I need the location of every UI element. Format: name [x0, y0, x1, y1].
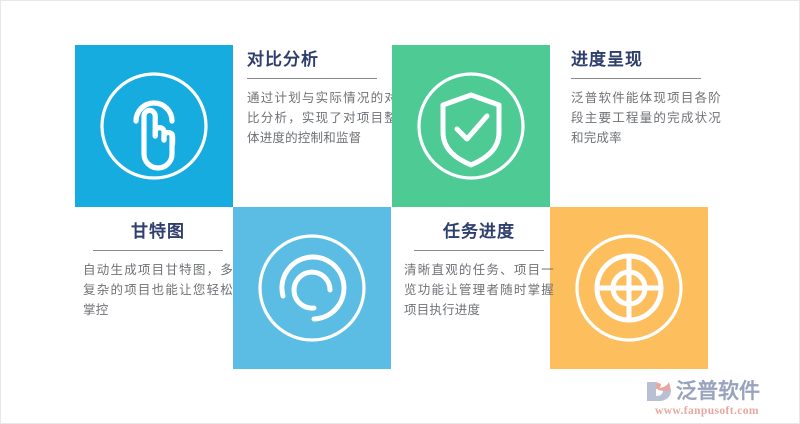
feature-title: 进度呈现 [571, 49, 721, 71]
feature-title: 对比分析 [247, 49, 397, 71]
crosshair-target-icon [569, 228, 689, 348]
logo-brand-name: 泛普软件 [676, 379, 760, 403]
feature-body: 泛普软件能体现项目各阶段主要工程量的完成状况和完成率 [571, 88, 721, 148]
title-divider [414, 250, 544, 251]
logo-website-url: www.fanpusoft.com [655, 405, 787, 417]
feature-body: 通过计划与实际情况的对比分析，实现了对项目整体进度的控制和监督 [247, 88, 397, 148]
title-divider [247, 78, 377, 79]
brand-logo: 泛普软件 www.fanpusoft.com [645, 378, 787, 418]
feature-tile-task-progress [550, 207, 708, 369]
feature-grid-page: 对比分析 通过计划与实际情况的对比分析，实现了对项目整体进度的控制和监督 进度呈… [0, 0, 800, 424]
fanpu-logo-mark-icon [645, 379, 673, 404]
feature-body: 自动生成项目甘特图，多复杂的项目也能让您轻松掌控 [83, 260, 233, 320]
spiral-arcs-icon [252, 228, 372, 348]
feature-tile-contrast-analysis [75, 45, 233, 207]
feature-text-task-progress: 任务进度 清晰直观的任务、项目一览功能让管理者随时掌握项目执行进度 [404, 221, 554, 320]
touch-hand-icon [94, 66, 214, 186]
feature-title: 甘特图 [83, 221, 233, 243]
feature-tile-progress-presentation [392, 45, 550, 207]
feature-text-contrast-analysis: 对比分析 通过计划与实际情况的对比分析，实现了对项目整体进度的控制和监督 [247, 49, 397, 148]
feature-text-gantt-chart: 甘特图 自动生成项目甘特图，多复杂的项目也能让您轻松掌控 [83, 221, 233, 320]
title-divider [571, 78, 701, 79]
logo-row: 泛普软件 [645, 378, 787, 404]
title-divider [93, 250, 223, 251]
shield-check-icon [411, 66, 531, 186]
feature-title: 任务进度 [404, 221, 554, 243]
feature-text-progress-presentation: 进度呈现 泛普软件能体现项目各阶段主要工程量的完成状况和完成率 [571, 49, 721, 148]
feature-body: 清晰直观的任务、项目一览功能让管理者随时掌握项目执行进度 [404, 260, 554, 320]
feature-tile-gantt-chart [233, 207, 391, 369]
